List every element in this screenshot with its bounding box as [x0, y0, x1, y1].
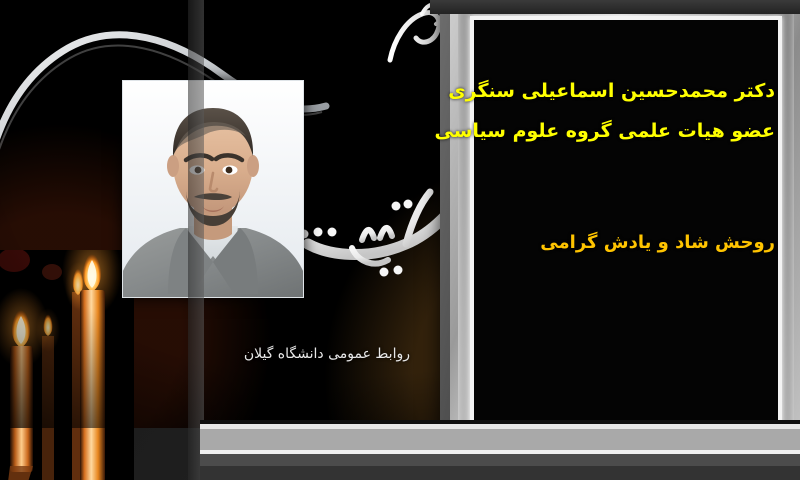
deceased-name: دکتر محمدحسین اسماعیلی سنگری — [430, 80, 775, 102]
frame-top-rail — [430, 0, 800, 14]
frame-bottom-rail — [200, 420, 800, 480]
avatar — [122, 80, 304, 298]
frame-left-edge — [188, 0, 204, 480]
issuer-line: روابط عمومی دانشگاه گیلان — [110, 346, 410, 362]
deceased-role: عضو هیات علمی گروه علوم سیاسی — [430, 120, 775, 142]
portrait-photo-icon — [122, 80, 304, 298]
wish-line: روحش شاد و یادش گرامی — [430, 232, 775, 253]
memorial-card: دکتر محمدحسین اسماعیلی سنگری عضو هیات عل… — [0, 0, 800, 480]
